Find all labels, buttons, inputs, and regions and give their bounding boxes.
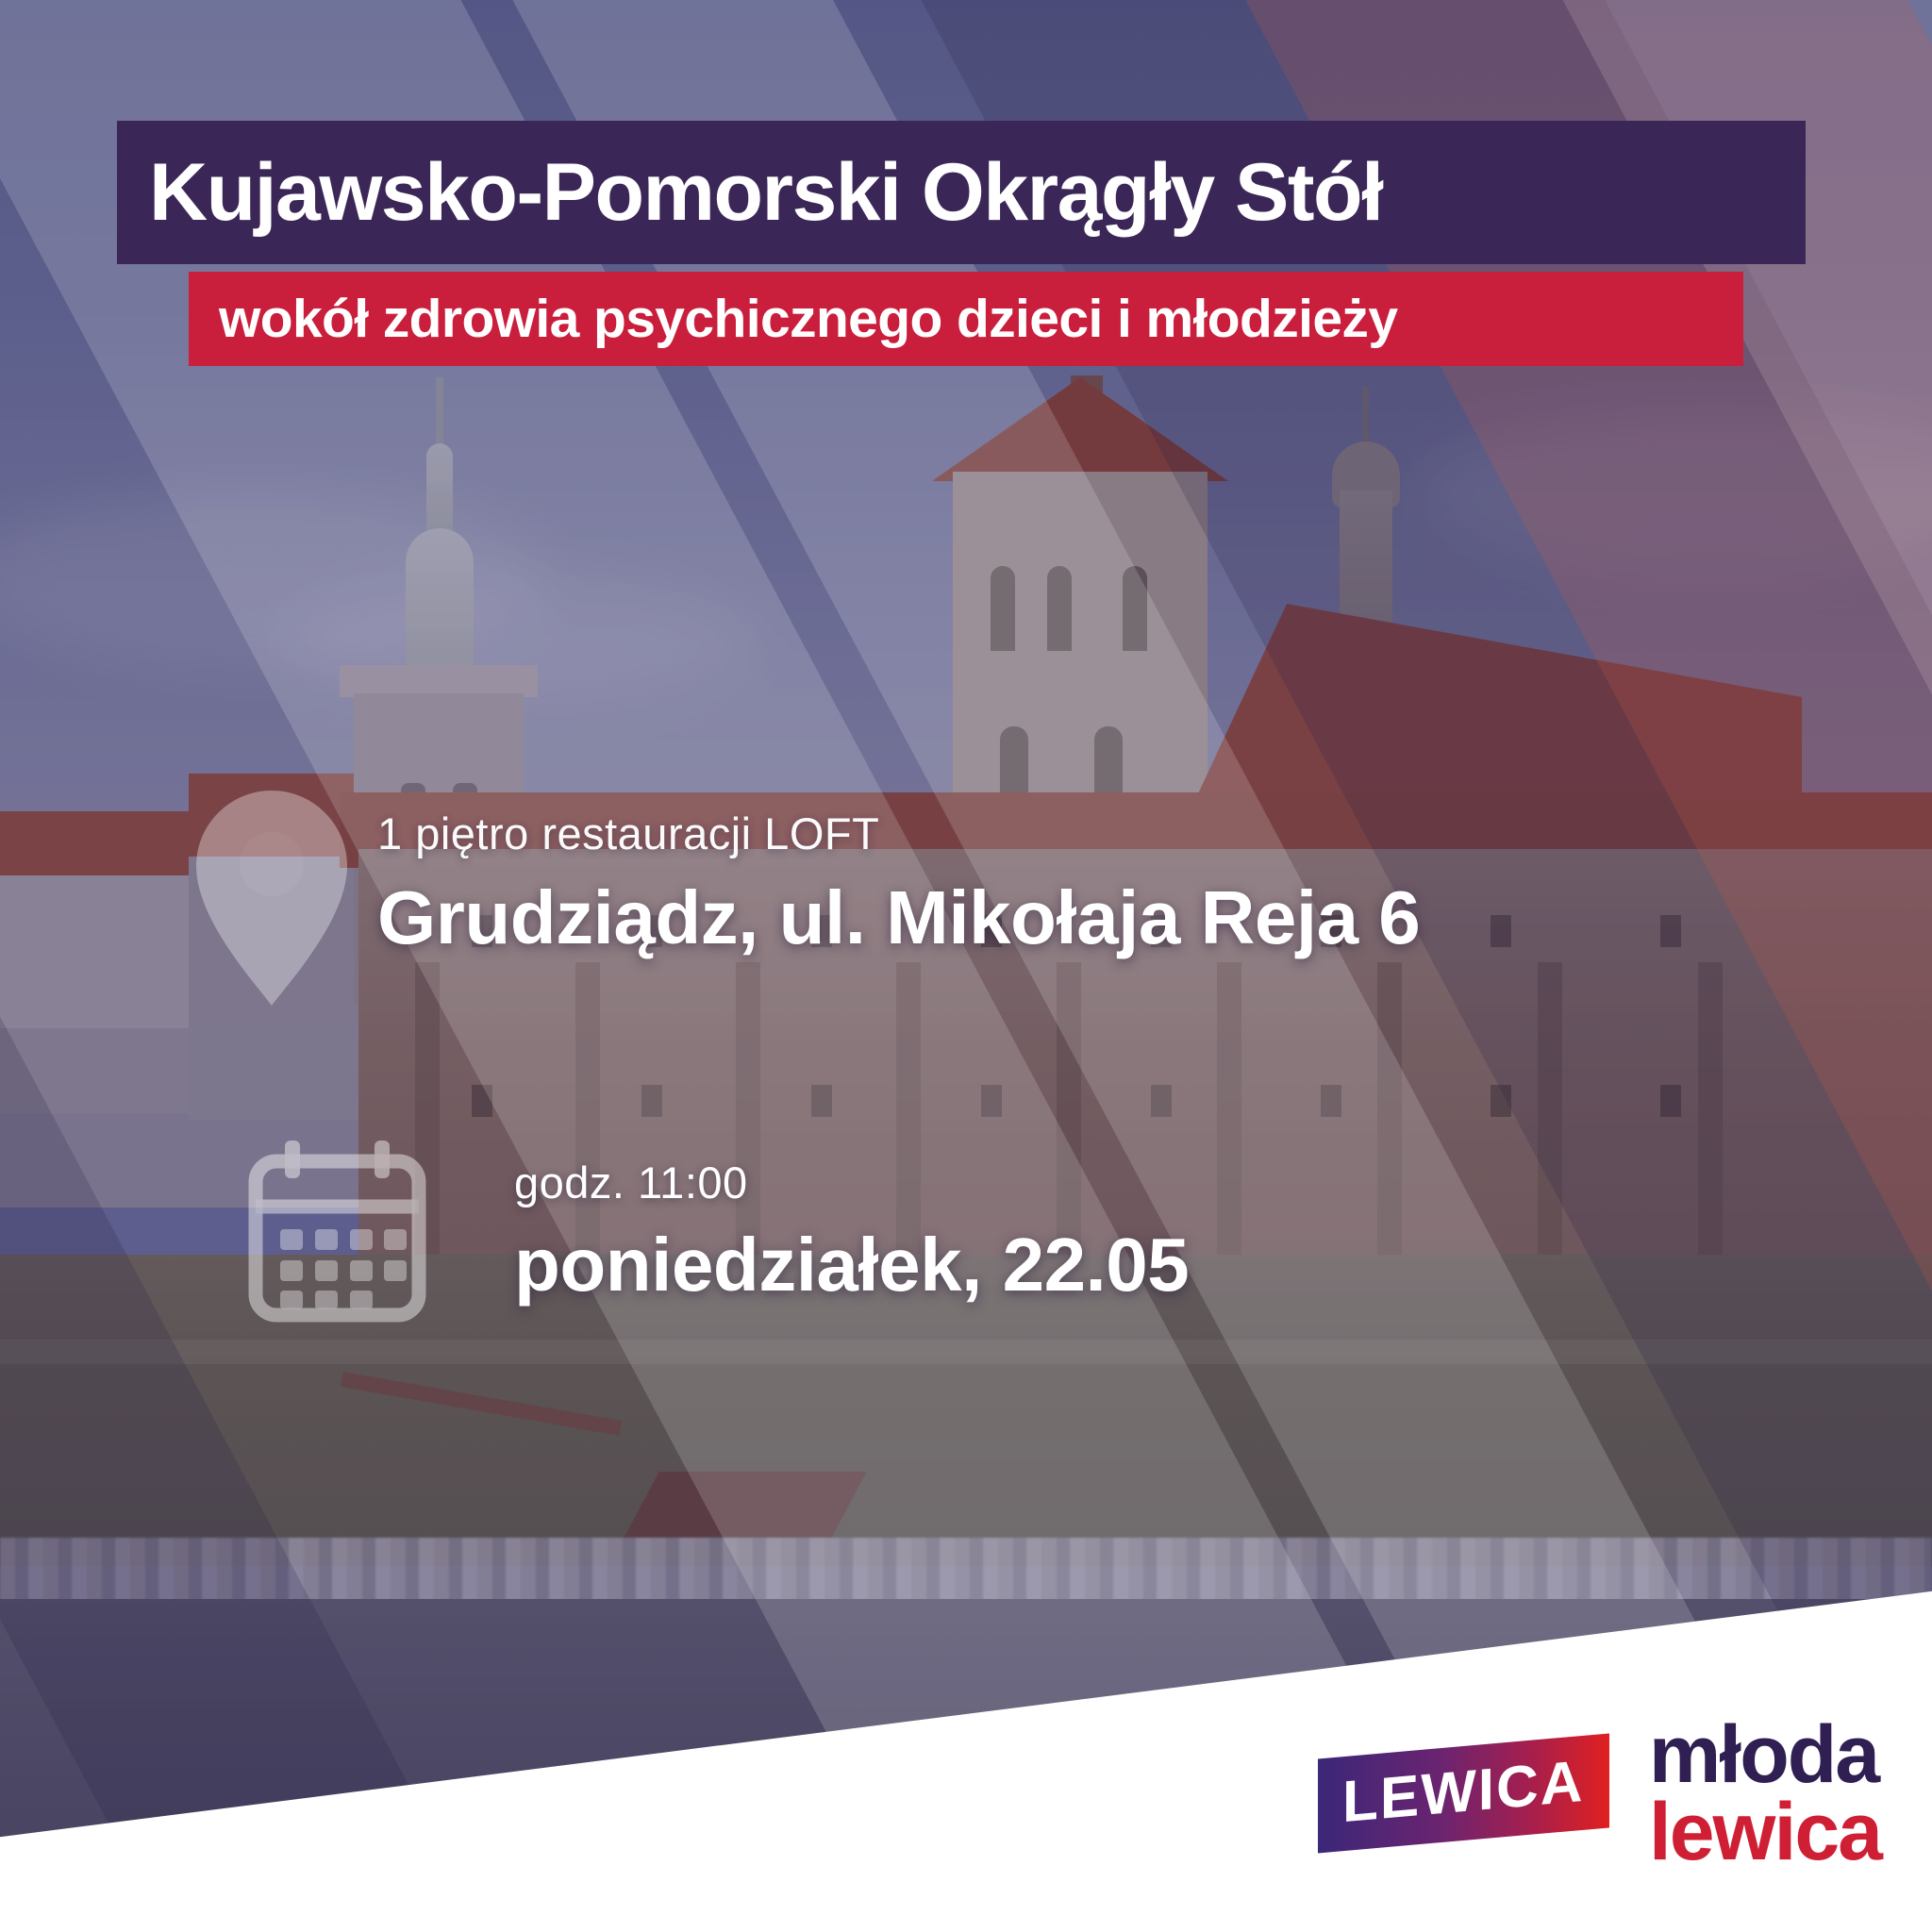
event-poster: Kujawsko-Pomorski Okrągły Stół wokół zdr… xyxy=(0,0,1932,1932)
event-time: godz. 11:00 xyxy=(514,1160,1189,1205)
mloda-lewica-line2: lewica xyxy=(1649,1793,1881,1872)
location-block: 1 piętro restauracji LOFT Grudziądz, ul.… xyxy=(377,811,1420,956)
calendar-icon xyxy=(241,1137,434,1330)
venue-address: Grudziądz, ul. Mikołaja Reja 6 xyxy=(377,880,1420,956)
mloda-lewica-line1: młoda xyxy=(1649,1716,1881,1794)
venue-detail: 1 piętro restauracji LOFT xyxy=(377,811,1420,856)
lewica-logo[interactable]: LEWICA xyxy=(1318,1734,1609,1854)
logo-row: LEWICA młoda lewica xyxy=(1318,1716,1881,1872)
subtitle-banner: wokół zdrowia psychicznego dzieci i młod… xyxy=(189,272,1743,366)
page-subtitle: wokół zdrowia psychicznego dzieci i młod… xyxy=(189,292,1397,346)
lewica-logo-text: LEWICA xyxy=(1342,1753,1585,1832)
mloda-lewica-logo[interactable]: młoda lewica xyxy=(1649,1716,1881,1872)
datetime-block: godz. 11:00 poniedziałek, 22.05 xyxy=(514,1160,1189,1303)
event-date: poniedziałek, 22.05 xyxy=(514,1227,1189,1303)
title-banner: Kujawsko-Pomorski Okrągły Stół xyxy=(117,121,1806,264)
map-pin-hole-icon xyxy=(185,785,358,1011)
page-title: Kujawsko-Pomorski Okrągły Stół xyxy=(117,152,1382,233)
